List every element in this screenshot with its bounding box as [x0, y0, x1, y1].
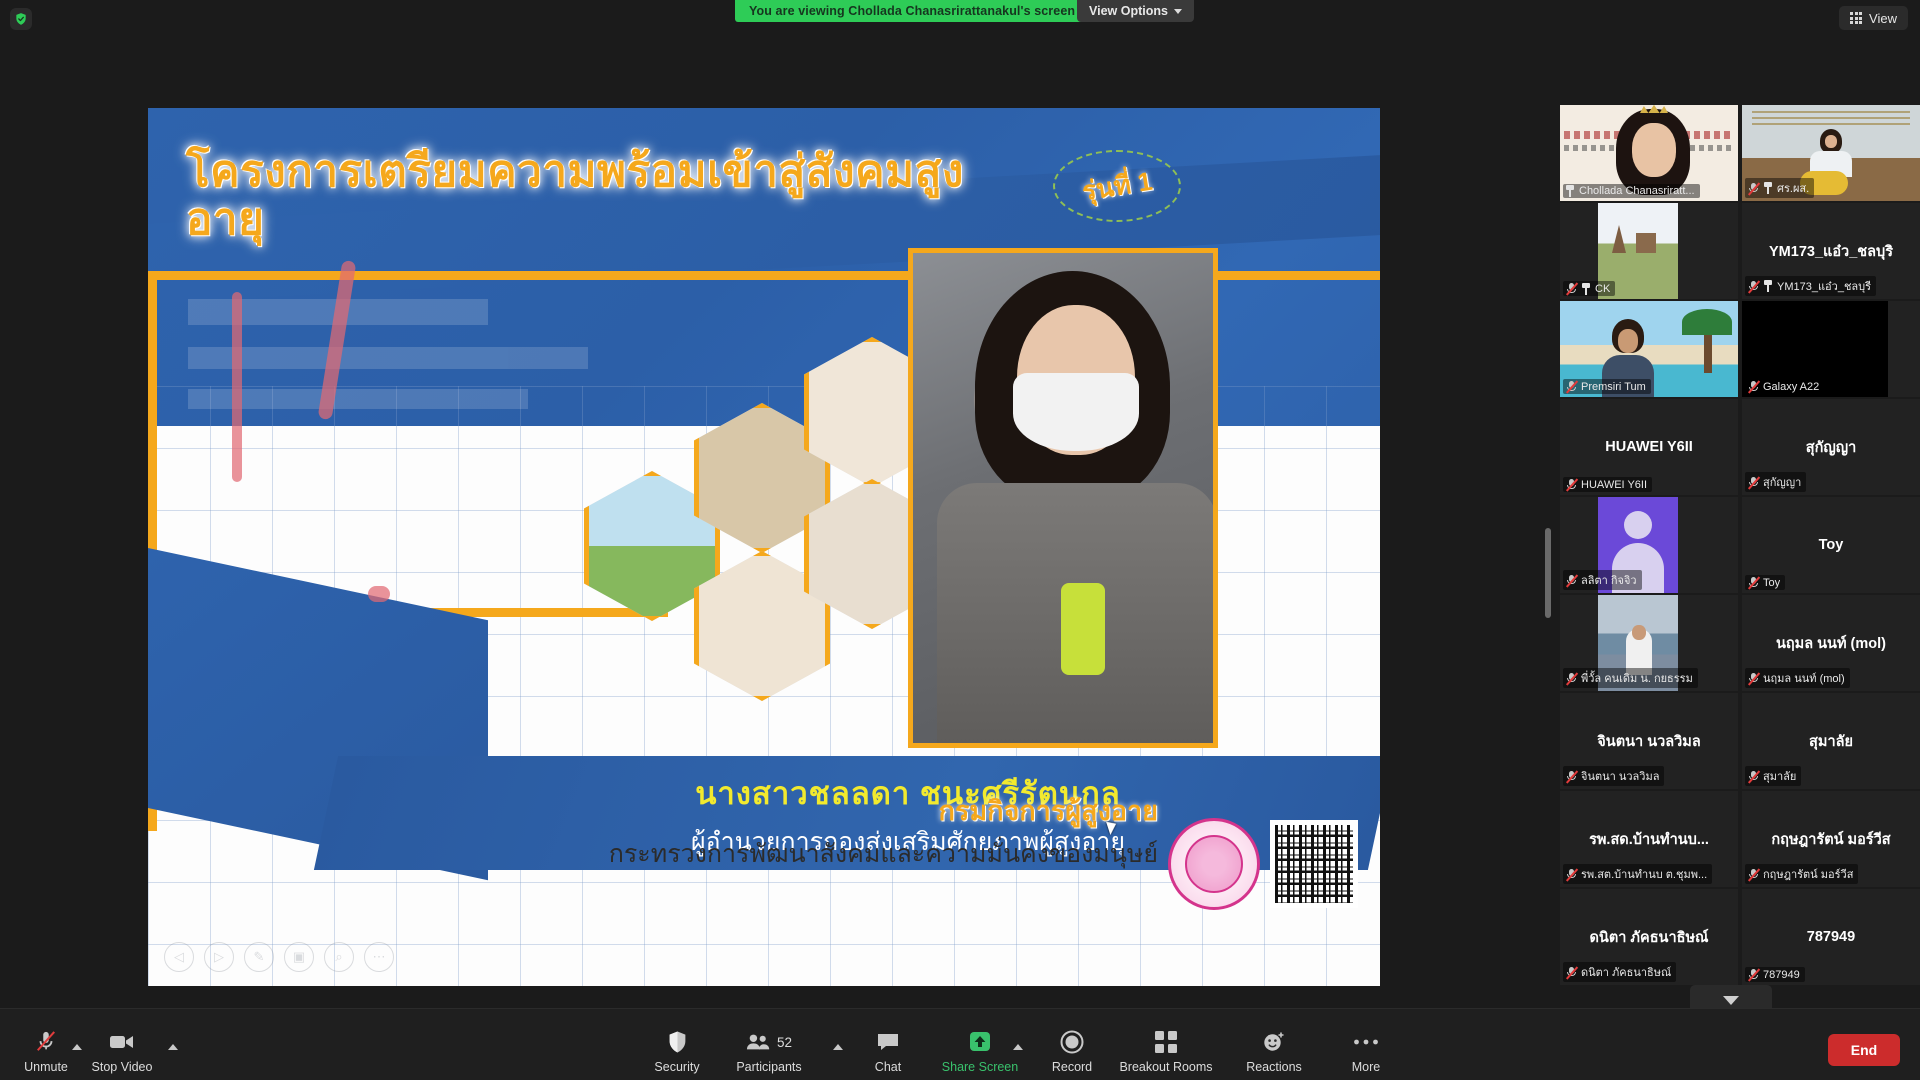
- participant-tile[interactable]: ดนิตา ภัคธนาธิษณ์ดนิตา ภัคธนาธิษณ์: [1560, 889, 1738, 985]
- reactions-label: Reactions: [1246, 1060, 1302, 1074]
- participant-nameplate: ดนิตา ภัคธนาธิษณ์: [1563, 962, 1676, 982]
- grid-view-icon: [1850, 12, 1862, 24]
- participant-tile[interactable]: ศร.ผส.: [1742, 105, 1920, 201]
- participant-name: นฤมล นนท์ (mol): [1763, 669, 1845, 687]
- participant-nameplate: นฤมล นนท์ (mol): [1745, 668, 1850, 688]
- microphone-muted-icon: [35, 1028, 57, 1056]
- share-screen-button[interactable]: Share Screen: [934, 1028, 1026, 1074]
- participant-name: กฤษฎารัตน์ มอร์วีส: [1763, 865, 1853, 883]
- view-options-label: View Options: [1089, 4, 1168, 18]
- participant-name: ลลิตา กิจจิว: [1581, 571, 1637, 589]
- microphone-muted-icon: [1565, 574, 1577, 587]
- microphone-muted-icon: [1747, 868, 1759, 881]
- participant-name: ศร.ผส.: [1777, 179, 1809, 197]
- end-meeting-label: End: [1851, 1042, 1877, 1058]
- participant-nameplate: Galaxy A22: [1745, 379, 1824, 394]
- view-layout-button[interactable]: View: [1839, 6, 1908, 30]
- participant-name: 787949: [1763, 969, 1800, 981]
- microphone-muted-icon: [1747, 672, 1759, 685]
- slide-official-seal-icon: [1168, 818, 1260, 910]
- microphone-muted-icon: [1565, 282, 1577, 295]
- participant-nameplate: 787949: [1745, 967, 1805, 982]
- pin-icon: [1581, 283, 1591, 295]
- participant-tile[interactable]: YM173_แอ๋ว_ชลบุริYM173_แอ๋ว_ชลบุรี: [1742, 203, 1920, 299]
- reactions-button[interactable]: Reactions: [1228, 1028, 1320, 1074]
- slide-qr-code: [1270, 820, 1358, 908]
- more-icon[interactable]: ⋯: [364, 942, 394, 972]
- participant-tile[interactable]: ลลิตา กิจจิว: [1560, 497, 1738, 593]
- participant-tile[interactable]: สุกัญญาสุกัญญา: [1742, 399, 1920, 495]
- participant-nameplate: สุกัญญา: [1745, 472, 1806, 492]
- stop-video-button[interactable]: Stop Video: [76, 1028, 168, 1074]
- ellipsis-icon: [1353, 1028, 1379, 1056]
- security-button[interactable]: Security: [631, 1028, 723, 1074]
- participant-tile[interactable]: รพ.สด.บ้านทำนบ...รพ.สต.บ้านทำนบ ต.ชุมพ..…: [1560, 791, 1738, 887]
- participant-tile[interactable]: พี่วั้ล คนเดิม น. กยธรรม: [1560, 595, 1738, 691]
- microphone-muted-icon: [1565, 478, 1577, 491]
- slide-department-name: กรมกิจการผู้สูงอาย: [609, 789, 1158, 832]
- record-button[interactable]: Record: [1026, 1028, 1118, 1074]
- participant-tile[interactable]: HUAWEI Y6IIHUAWEI Y6II: [1560, 399, 1738, 495]
- participant-name: Premsiri Tum: [1581, 381, 1646, 393]
- zoom-meeting-window: You are viewing Chollada Chanasrirattana…: [0, 0, 1920, 1080]
- microphone-muted-icon: [1747, 476, 1759, 489]
- microphone-muted-icon: [1747, 576, 1759, 589]
- microphone-muted-icon: [1747, 770, 1759, 783]
- slide-batch-label: รุ่นที่ 1: [1079, 160, 1155, 212]
- end-meeting-button[interactable]: End: [1828, 1034, 1900, 1066]
- view-button-label: View: [1869, 11, 1897, 26]
- slide-decorative-bars: [188, 263, 608, 463]
- record-label: Record: [1052, 1060, 1092, 1074]
- participant-name: YM173_แอ๋ว_ชลบุรี: [1777, 277, 1871, 295]
- shared-screen-scrollbar[interactable]: [1545, 528, 1551, 618]
- shield-icon: [667, 1028, 688, 1056]
- slide-annotation-toolbar[interactable]: ◁ ▷ ✎ ▣ ⌕ ⋯: [148, 934, 408, 980]
- participant-name: จินตนา นวลวิมล: [1581, 767, 1659, 785]
- participant-nameplate: สุมาลัย: [1745, 766, 1801, 786]
- slide-batch-badge: รุ่นที่ 1: [1053, 150, 1181, 222]
- pin-icon: [1763, 182, 1773, 194]
- participant-thumbnail-strip: Chollada Chanasriratt...ศร.ผส.CKYM173_แอ…: [1560, 105, 1920, 985]
- chat-label: Chat: [875, 1060, 901, 1074]
- viewing-screen-text: You are viewing Chollada Chanasrirattana…: [749, 4, 1075, 18]
- participant-nameplate: ลลิตา กิจจิว: [1563, 570, 1642, 590]
- participant-nameplate: CK: [1563, 281, 1615, 296]
- participant-name: CK: [1595, 283, 1610, 295]
- microphone-muted-icon: [1565, 672, 1577, 685]
- participant-nameplate: Toy: [1745, 575, 1785, 590]
- participant-name: สุมาลัย: [1763, 767, 1796, 785]
- zoom-icon[interactable]: ⌕: [324, 942, 354, 972]
- breakout-rooms-button[interactable]: Breakout Rooms: [1108, 1028, 1224, 1074]
- participant-tile[interactable]: Chollada Chanasriratt...: [1560, 105, 1738, 201]
- participant-tile[interactable]: Premsiri Tum: [1560, 301, 1738, 397]
- slide-decorative-stroke-1: [232, 292, 242, 482]
- microphone-muted-icon: [1565, 868, 1577, 881]
- participant-tile[interactable]: สุมาลัยสุมาลัย: [1742, 693, 1920, 789]
- participant-nameplate: Chollada Chanasriratt...: [1563, 184, 1700, 198]
- play-icon[interactable]: ▷: [204, 942, 234, 972]
- microphone-muted-icon: [1565, 966, 1577, 979]
- participant-tile[interactable]: Galaxy A22: [1742, 301, 1920, 397]
- participant-tile[interactable]: จินตนา นวลวิมลจินตนา นวลวิมล: [1560, 693, 1738, 789]
- shield-check-icon[interactable]: [10, 8, 32, 30]
- shared-screen-stage: โครงการเตรียมความพร้อมเข้าสู่สังคมสูงอาย…: [0, 28, 1553, 1008]
- participant-nameplate: กฤษฎารัตน์ มอร์วีส: [1745, 864, 1858, 884]
- participant-nameplate: HUAWEI Y6II: [1563, 477, 1652, 492]
- microphone-muted-icon: [1747, 380, 1759, 393]
- shared-slide[interactable]: โครงการเตรียมความพร้อมเข้าสู่สังคมสูงอาย…: [148, 108, 1380, 986]
- slide-title: โครงการเตรียมความพร้อมเข้าสู่สังคมสูงอาย…: [186, 148, 1006, 245]
- laser-icon[interactable]: ▣: [284, 942, 314, 972]
- participant-tile[interactable]: CK: [1560, 203, 1738, 299]
- participant-nameplate: YM173_แอ๋ว_ชลบุรี: [1745, 276, 1876, 296]
- top-bar: You are viewing Chollada Chanasrirattana…: [0, 0, 1920, 28]
- record-circle-icon: [1060, 1028, 1084, 1056]
- participant-nameplate: รพ.สต.บ้านทำนบ ต.ชุมพ...: [1563, 864, 1712, 884]
- participant-name: พี่วั้ล คนเดิม น. กยธรรม: [1581, 669, 1693, 687]
- participant-name: HUAWEI Y6II: [1581, 479, 1647, 491]
- participant-name: ดนิตา ภัคธนาธิษณ์: [1581, 963, 1671, 981]
- smiley-plus-icon: [1262, 1028, 1286, 1056]
- microphone-muted-icon: [1747, 182, 1759, 195]
- microphone-muted-icon: [1565, 770, 1577, 783]
- video-camera-icon: [109, 1028, 135, 1056]
- more-label: More: [1352, 1060, 1380, 1074]
- participant-name: Chollada Chanasriratt...: [1579, 185, 1695, 197]
- participant-tile[interactable]: นฤมล นนท์ (mol)นฤมล นนท์ (mol): [1742, 595, 1920, 691]
- more-button[interactable]: More: [1320, 1028, 1412, 1074]
- share-options-caret[interactable]: [1013, 1044, 1023, 1050]
- chat-button[interactable]: Chat: [842, 1028, 934, 1074]
- participants-button[interactable]: 52 Participants: [723, 1028, 815, 1074]
- microphone-muted-icon: [1565, 380, 1577, 393]
- slide-presenter-photo: [908, 248, 1218, 748]
- participant-name: รพ.สต.บ้านทำนบ ต.ชุมพ...: [1581, 865, 1707, 883]
- chevron-down-icon: [1723, 996, 1739, 1005]
- microphone-muted-icon: [1747, 280, 1759, 293]
- pen-icon[interactable]: ✎: [244, 942, 274, 972]
- people-icon: 52: [746, 1028, 792, 1056]
- chat-bubble-icon: [876, 1028, 900, 1056]
- participant-name: Galaxy A22: [1763, 381, 1819, 393]
- participant-tile[interactable]: ToyToy: [1742, 497, 1920, 593]
- participants-label: Participants: [736, 1060, 801, 1074]
- share-up-arrow-icon: [967, 1028, 993, 1056]
- participant-name: Toy: [1763, 577, 1780, 589]
- share-screen-label: Share Screen: [942, 1060, 1018, 1074]
- pin-icon: [1763, 280, 1773, 292]
- participant-nameplate: จินตนา นวลวิมล: [1563, 766, 1664, 786]
- grid-squares-icon: [1155, 1028, 1177, 1056]
- participants-count: 52: [777, 1035, 792, 1050]
- slide-ministry-name: กระทรวงการพัฒนาสังคมและความมั่นคงของมนุษ…: [609, 834, 1158, 874]
- participant-nameplate: ศร.ผส.: [1745, 178, 1814, 198]
- participant-nameplate: Premsiri Tum: [1563, 379, 1651, 394]
- participant-nameplate: พี่วั้ล คนเดิม น. กยธรรม: [1563, 668, 1698, 688]
- participant-tile[interactable]: 787949787949: [1742, 889, 1920, 985]
- view-options-dropdown[interactable]: View Options: [1077, 0, 1194, 22]
- breakout-rooms-label: Breakout Rooms: [1119, 1060, 1212, 1074]
- slide-department-block: กรมกิจการผู้สูงอาย กระทรวงการพัฒนาสังคมแ…: [609, 789, 1158, 874]
- slide-decorative-dot: [368, 586, 390, 602]
- participant-name: สุกัญญา: [1763, 473, 1801, 491]
- participant-tile[interactable]: กฤษฎารัตน์ มอร์วีสกฤษฎารัตน์ มอร์วีส: [1742, 791, 1920, 887]
- unmute-label: Unmute: [24, 1060, 68, 1074]
- microphone-muted-icon: [1747, 968, 1759, 981]
- chevron-down-icon: [1174, 9, 1182, 14]
- viewing-screen-banner: You are viewing Chollada Chanasrirattana…: [735, 0, 1089, 22]
- stop-video-label: Stop Video: [92, 1060, 153, 1074]
- security-label: Security: [654, 1060, 699, 1074]
- video-options-caret[interactable]: [168, 1044, 178, 1050]
- meeting-toolbar: Unmute Stop Video Security: [0, 1008, 1920, 1080]
- pin-icon: [1565, 185, 1575, 197]
- prev-slide-icon[interactable]: ◁: [164, 942, 194, 972]
